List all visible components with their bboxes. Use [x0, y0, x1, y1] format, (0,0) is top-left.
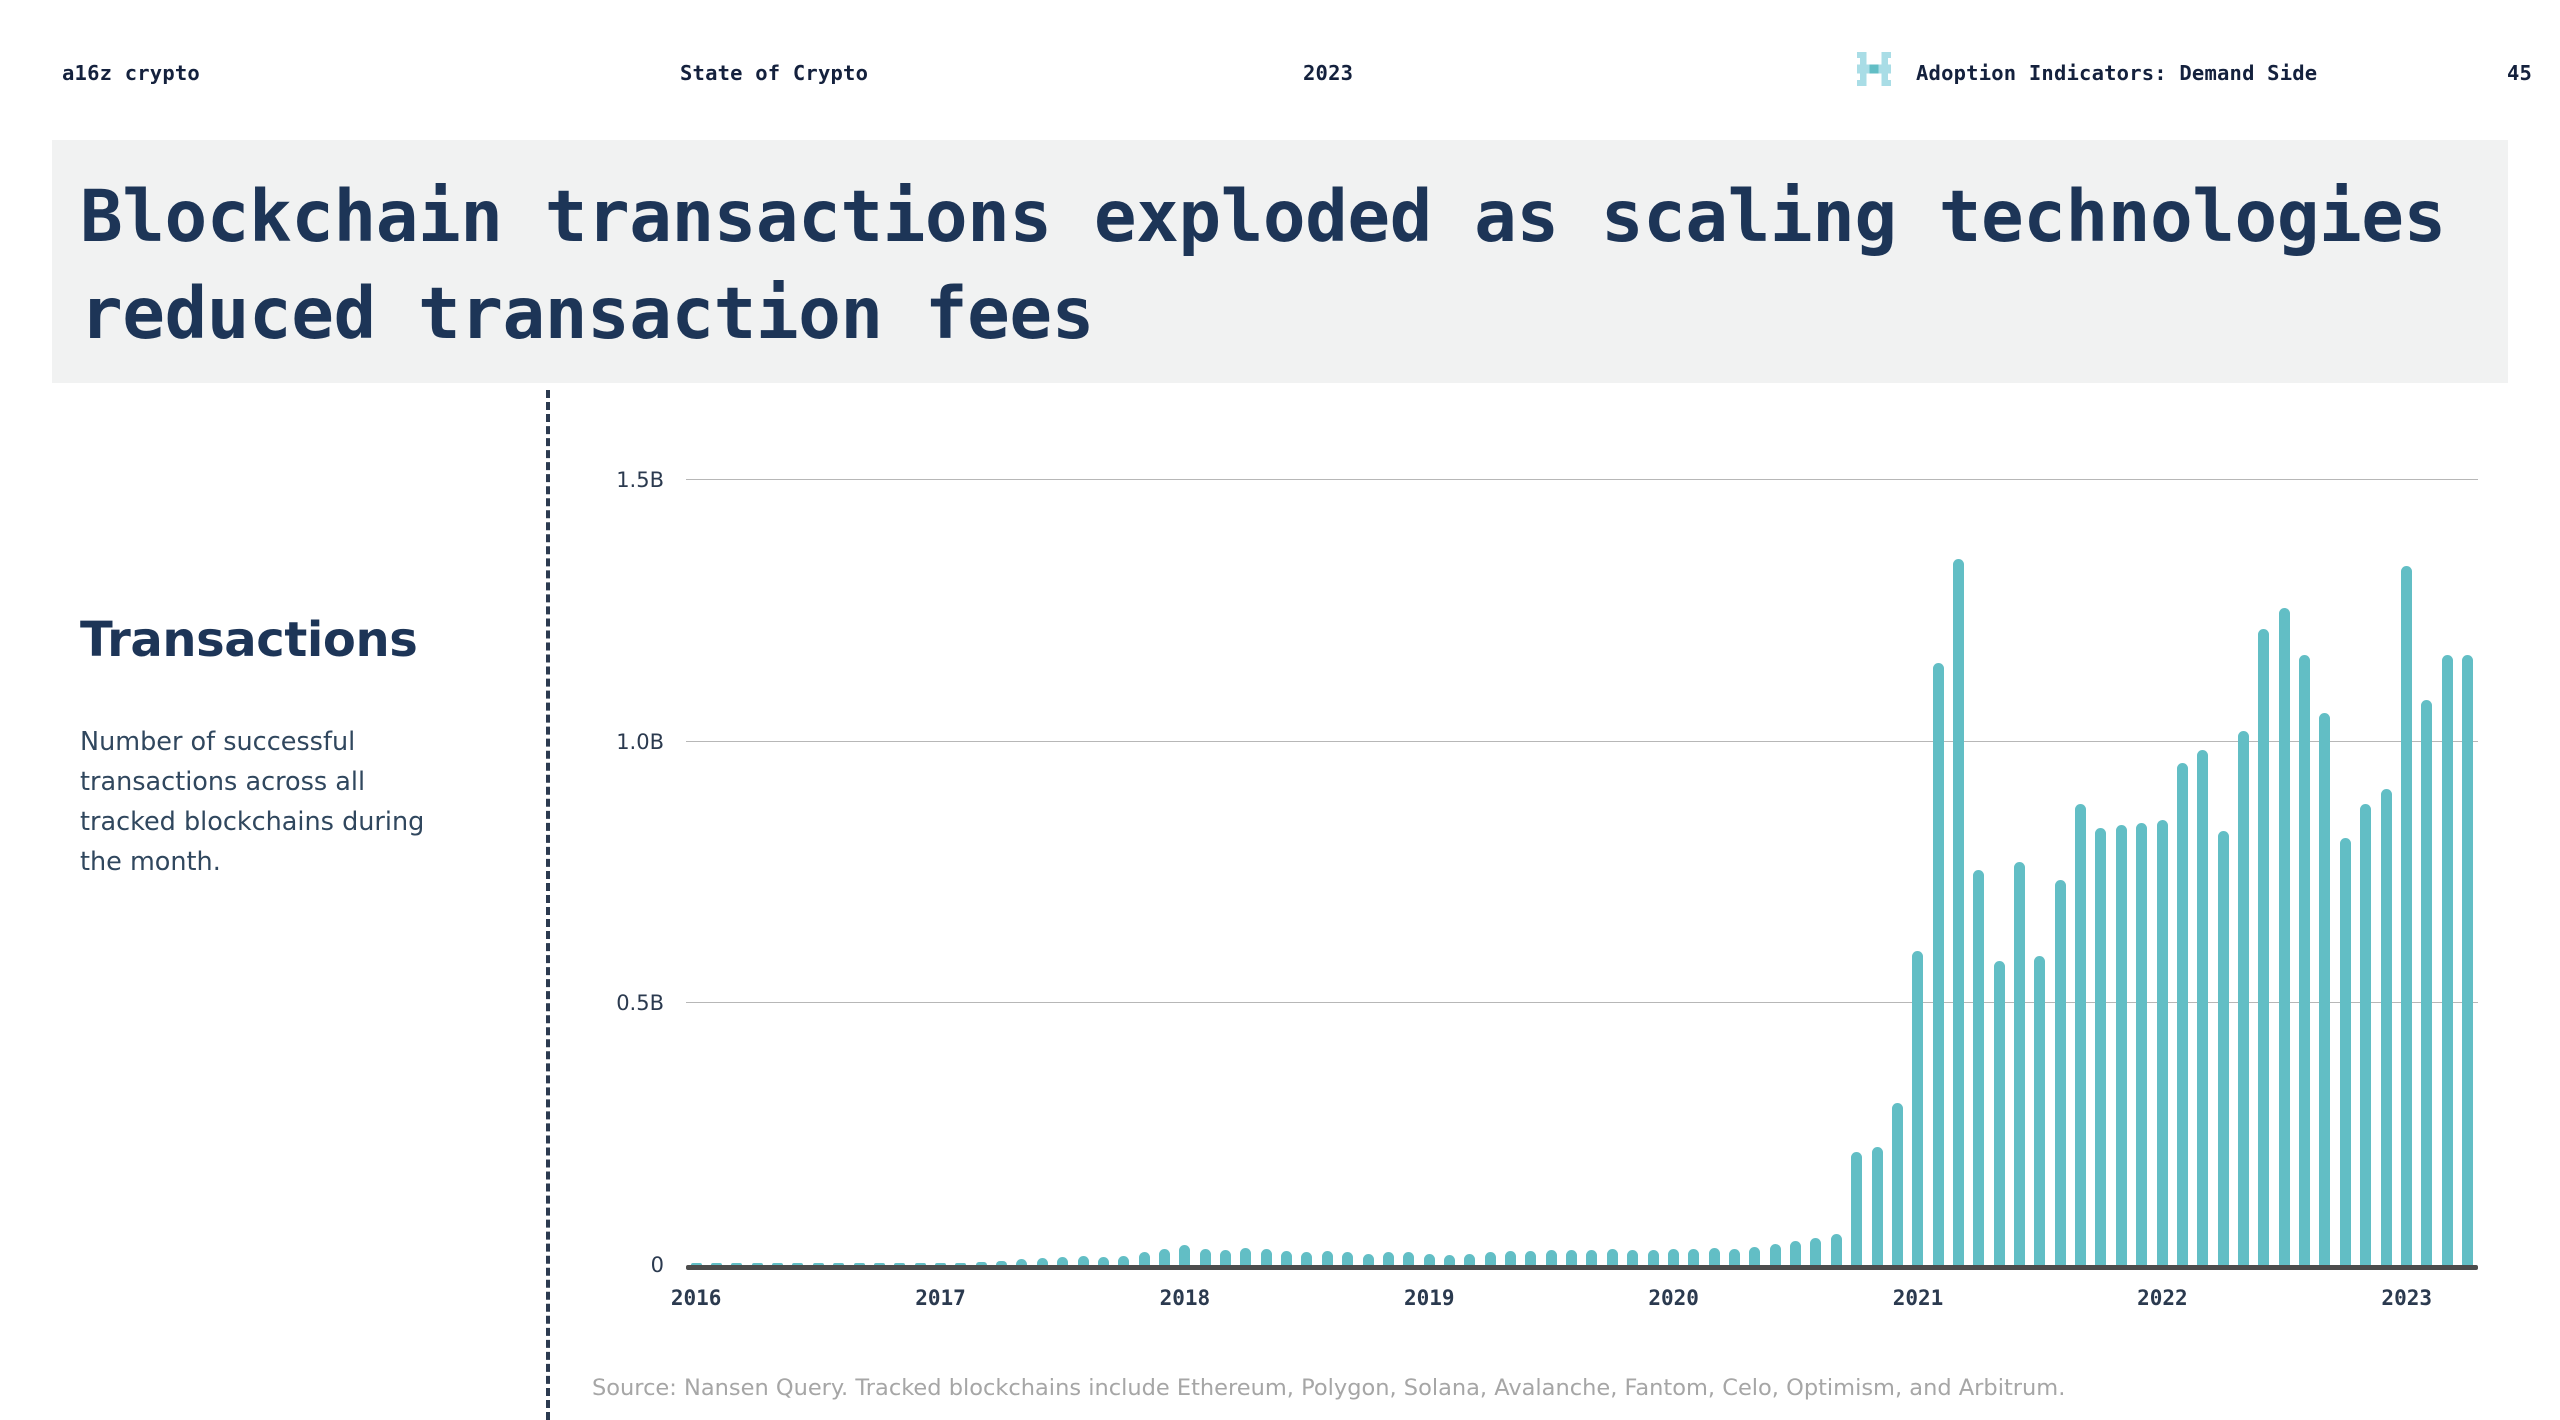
y-axis-tick-label: 0 — [651, 1253, 664, 1277]
chart-bar[interactable] — [1810, 1238, 1821, 1265]
metric-heading: Transactions — [80, 612, 500, 668]
chart-bar-cell — [1785, 480, 1805, 1265]
chart-bar-cell — [2457, 480, 2477, 1265]
chart-bar[interactable] — [1403, 1252, 1414, 1265]
chart-bar-cell — [2315, 480, 2335, 1265]
chart-bar-cell — [1521, 480, 1541, 1265]
chart-bar[interactable] — [1627, 1250, 1638, 1265]
chart-bar-cell — [2111, 480, 2131, 1265]
chart-bar-cell — [2355, 480, 2375, 1265]
chart-bar[interactable] — [1892, 1103, 1903, 1265]
chart-bar[interactable] — [1118, 1256, 1129, 1265]
chart-bar-cell — [2335, 480, 2355, 1265]
chart-bar[interactable] — [2462, 655, 2473, 1265]
chart-bar-cell — [2274, 480, 2294, 1265]
chart-bar[interactable] — [1790, 1241, 1801, 1265]
chart-bar-cell — [1806, 480, 1826, 1265]
chart-bar-cell — [1460, 480, 1480, 1265]
chart-bar-cell — [2030, 480, 2050, 1265]
chart-bar[interactable] — [1668, 1249, 1679, 1265]
chart-bar-cell — [1908, 480, 1928, 1265]
chart-bar[interactable] — [1179, 1245, 1190, 1265]
chart-bar-cell — [1256, 480, 1276, 1265]
chart-bar-cell — [1826, 480, 1846, 1265]
chart-bar-cell — [2132, 480, 2152, 1265]
chart-bar[interactable] — [2197, 750, 2208, 1265]
chart-bar-cell — [1032, 480, 1052, 1265]
chart-bar-cell — [1846, 480, 1866, 1265]
chart-bar[interactable] — [1831, 1234, 1842, 1265]
chart-bar-cell — [1541, 480, 1561, 1265]
header-report-title: State of Crypto — [680, 60, 868, 86]
chart-bar[interactable] — [1057, 1257, 1068, 1265]
chart-bar[interactable] — [2157, 820, 2168, 1265]
chart-bar-cell — [1175, 480, 1195, 1265]
chart-bar[interactable] — [1281, 1251, 1292, 1265]
chart-bar-cell — [767, 480, 787, 1265]
chart-bar[interactable] — [1424, 1254, 1435, 1266]
chart-bar-cell — [829, 480, 849, 1265]
chart-bar[interactable] — [1729, 1249, 1740, 1265]
chart-bar-cell — [1582, 480, 1602, 1265]
chart-bar-cell — [1358, 480, 1378, 1265]
chart-bar-cell — [808, 480, 828, 1265]
metric-description: Number of successful transactions across… — [80, 722, 458, 882]
chart-bar-cell — [1154, 480, 1174, 1265]
chart-plot-area: 00.5B1.0B1.5B 20162017201820192020202120… — [686, 480, 2478, 1270]
chart-bar[interactable] — [1037, 1258, 1048, 1265]
y-axis-tick-label: 1.0B — [616, 730, 664, 754]
chart-bar[interactable] — [1648, 1250, 1659, 1265]
chart-bar[interactable] — [1098, 1257, 1109, 1265]
chart-bar-cell — [706, 480, 726, 1265]
chart-bar-cell — [1012, 480, 1032, 1265]
chart-bar[interactable] — [1688, 1249, 1699, 1265]
y-axis-tick-label: 0.5B — [616, 991, 664, 1015]
chart-bar[interactable] — [1485, 1252, 1496, 1265]
chart-bar[interactable] — [1342, 1252, 1353, 1265]
chart-bar[interactable] — [2401, 566, 2412, 1265]
chart-bar-cell — [1602, 480, 1622, 1265]
chart-bar-cell — [1500, 480, 1520, 1265]
chart-bar-cell — [2294, 480, 2314, 1265]
chart-bar-cell — [1684, 480, 1704, 1265]
chart-bar-cell — [2254, 480, 2274, 1265]
chart-bar[interactable] — [1261, 1249, 1272, 1265]
chart-bar[interactable] — [2177, 763, 2188, 1265]
x-axis-tick-label: 2016 — [671, 1286, 722, 1310]
chart-bar[interactable] — [1770, 1244, 1781, 1265]
chart-bar-cell — [1561, 480, 1581, 1265]
chart-bar-cell — [1989, 480, 2009, 1265]
chart-bar[interactable] — [1546, 1250, 1557, 1265]
x-axis-tick-label: 2018 — [1160, 1286, 1211, 1310]
chart-bar[interactable] — [1383, 1252, 1394, 1265]
header-brand: a16z crypto — [62, 60, 200, 86]
chart-bar-cell — [2009, 480, 2029, 1265]
header-page-number: 45 — [2507, 60, 2532, 86]
chart-bar[interactable] — [2421, 700, 2432, 1265]
chart-bar[interactable] — [2442, 655, 2453, 1265]
chart-bar[interactable] — [1933, 663, 1944, 1265]
x-axis-tick-label: 2021 — [1893, 1286, 1944, 1310]
chart-bar-cell — [1948, 480, 1968, 1265]
chart-bar-cell — [1724, 480, 1744, 1265]
chart-bar[interactable] — [1322, 1251, 1333, 1265]
chart-bar[interactable] — [1301, 1252, 1312, 1265]
chart-bar[interactable] — [2034, 956, 2045, 1265]
chart-bar-cell — [2396, 480, 2416, 1265]
chart-bar[interactable] — [1200, 1249, 1211, 1265]
x-axis-tick-label: 2019 — [1404, 1286, 1455, 1310]
chart-bar[interactable] — [2116, 825, 2127, 1265]
chart-x-axis-line — [686, 1265, 2478, 1270]
chart-bar[interactable] — [1078, 1256, 1089, 1265]
chart-container: 00.5B1.0B1.5B 20162017201820192020202120… — [580, 420, 2510, 1350]
chart-bar-cell — [910, 480, 930, 1265]
chart-bar[interactable] — [1872, 1147, 1883, 1265]
chart-bar-cell — [2233, 480, 2253, 1265]
chart-bar-cell — [1134, 480, 1154, 1265]
chart-bar[interactable] — [2238, 731, 2249, 1265]
header-year: 2023 — [1303, 60, 1353, 86]
x-axis-tick-label: 2017 — [915, 1286, 966, 1310]
chart-bar-cell — [1480, 480, 1500, 1265]
chart-bar-cell — [930, 480, 950, 1265]
chart-bar-cell — [1663, 480, 1683, 1265]
chart-bar[interactable] — [2340, 838, 2351, 1265]
header-section-name: Adoption Indicators: Demand Side — [1916, 60, 2317, 86]
chart-bar-cell — [849, 480, 869, 1265]
chart-bar[interactable] — [2075, 804, 2086, 1265]
chart-bar[interactable] — [1159, 1249, 1170, 1265]
chart-bar-cell — [951, 480, 971, 1265]
chart-bar[interactable] — [1139, 1252, 1150, 1265]
chart-bar[interactable] — [1912, 951, 1923, 1265]
chart-bar[interactable] — [1994, 961, 2005, 1265]
chart-bar-cell — [788, 480, 808, 1265]
slide-header: a16z crypto State of Crypto 2023 Adoptio… — [0, 52, 2560, 94]
source-note: Source: Nansen Query. Tracked blockchain… — [592, 1375, 2065, 1401]
chart-bar-cell — [1052, 480, 1072, 1265]
x-axis-tick-label: 2020 — [1648, 1286, 1699, 1310]
chart-bar-cell — [2437, 480, 2457, 1265]
chart-bar-cell — [1073, 480, 1093, 1265]
chart-bar-cell — [1867, 480, 1887, 1265]
chart-bar-cell — [1317, 480, 1337, 1265]
chart-bar[interactable] — [2279, 608, 2290, 1265]
vertical-dashed-divider — [546, 390, 550, 1420]
chart-bar[interactable] — [2381, 789, 2392, 1265]
chart-bar-cell — [1765, 480, 1785, 1265]
chart-bar-cell — [1297, 480, 1317, 1265]
title-band: Blockchain transactions exploded as scal… — [52, 140, 2508, 383]
chart-bar[interactable] — [1444, 1255, 1455, 1265]
chart-bar-cell — [1236, 480, 1256, 1265]
chart-bar[interactable] — [1973, 870, 1984, 1265]
chart-bar-cell — [1114, 480, 1134, 1265]
chart-bar[interactable] — [1709, 1248, 1720, 1265]
chart-bar-cell — [2193, 480, 2213, 1265]
chart-bar[interactable] — [2136, 823, 2147, 1265]
chart-bar[interactable] — [1505, 1251, 1516, 1265]
chart-bar-cell — [2213, 480, 2233, 1265]
chart-bar-cell — [1704, 480, 1724, 1265]
chart-bar-cell — [2152, 480, 2172, 1265]
chart-bar[interactable] — [1851, 1152, 1862, 1265]
chart-bar[interactable] — [1953, 559, 1964, 1266]
chart-bar[interactable] — [2014, 862, 2025, 1265]
chart-bar-cell — [1643, 480, 1663, 1265]
chart-bar[interactable] — [1220, 1250, 1231, 1265]
a16z-pixel-h-logo-icon — [1857, 52, 1891, 86]
chart-bar-cell — [2172, 480, 2192, 1265]
chart-bar-cell — [2070, 480, 2090, 1265]
chart-bar[interactable] — [1464, 1254, 1475, 1266]
chart-bar-cell — [971, 480, 991, 1265]
chart-bar[interactable] — [1586, 1250, 1597, 1265]
chart-bar[interactable] — [1566, 1250, 1577, 1265]
chart-bar[interactable] — [2299, 655, 2310, 1265]
chart-bars — [686, 480, 2478, 1265]
chart-bar-cell — [2417, 480, 2437, 1265]
y-axis-tick-label: 1.5B — [616, 468, 664, 492]
chart-bar-cell — [1215, 480, 1235, 1265]
chart-bar-cell — [1276, 480, 1296, 1265]
chart-bar-cell — [2050, 480, 2070, 1265]
chart-bar-cell — [686, 480, 706, 1265]
x-axis-tick-label: 2023 — [2381, 1286, 2432, 1310]
chart-bar[interactable] — [2319, 713, 2330, 1265]
chart-bar-cell — [1195, 480, 1215, 1265]
chart-bar-cell — [1399, 480, 1419, 1265]
left-description-panel: Transactions Number of successful transa… — [80, 612, 500, 882]
chart-bar[interactable] — [2095, 828, 2106, 1265]
slide-title: Blockchain transactions exploded as scal… — [80, 168, 2470, 362]
chart-bar-cell — [2091, 480, 2111, 1265]
chart-bar-cell — [2376, 480, 2396, 1265]
chart-bar[interactable] — [2055, 880, 2066, 1265]
chart-bar[interactable] — [2218, 831, 2229, 1265]
chart-bar-cell — [1969, 480, 1989, 1265]
chart-bar-cell — [991, 480, 1011, 1265]
chart-bar[interactable] — [1749, 1247, 1760, 1265]
chart-bar-cell — [747, 480, 767, 1265]
chart-bar[interactable] — [1363, 1254, 1374, 1266]
chart-bar[interactable] — [1240, 1248, 1251, 1265]
chart-bar-cell — [1887, 480, 1907, 1265]
chart-bar-cell — [1378, 480, 1398, 1265]
x-axis-tick-label: 2022 — [2137, 1286, 2188, 1310]
chart-bar-cell — [890, 480, 910, 1265]
chart-bar[interactable] — [2258, 629, 2269, 1265]
chart-bar[interactable] — [2360, 804, 2371, 1265]
chart-bar-cell — [1419, 480, 1439, 1265]
chart-bar-cell — [1623, 480, 1643, 1265]
slide-root: a16z crypto State of Crypto 2023 Adoptio… — [0, 0, 2560, 1420]
chart-bar-cell — [1439, 480, 1459, 1265]
chart-bar[interactable] — [1525, 1251, 1536, 1265]
chart-bar-cell — [1745, 480, 1765, 1265]
chart-bar-cell — [1928, 480, 1948, 1265]
chart-bar-cell — [869, 480, 889, 1265]
chart-bar-cell — [1093, 480, 1113, 1265]
chart-bar[interactable] — [1607, 1249, 1618, 1265]
chart-bar-cell — [1338, 480, 1358, 1265]
chart-bar-cell — [727, 480, 747, 1265]
